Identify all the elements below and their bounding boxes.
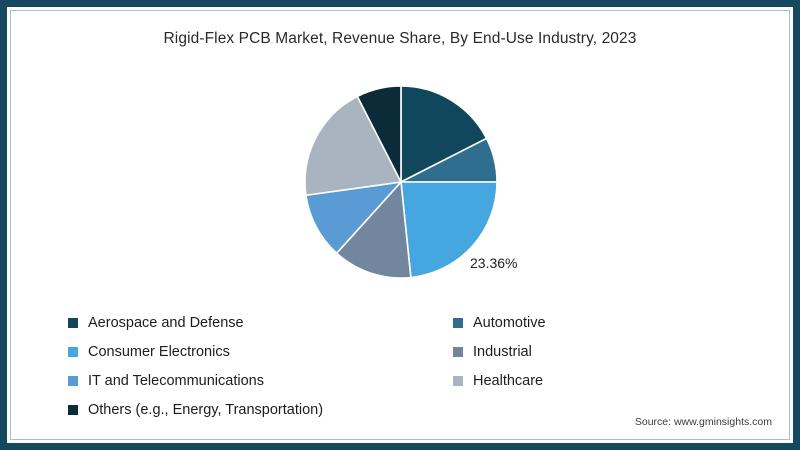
legend-swatch-icon — [453, 347, 463, 357]
legend-item[interactable]: Consumer Electronics — [68, 337, 448, 366]
legend-item-label: Others (e.g., Energy, Transportation) — [88, 402, 323, 418]
legend-item[interactable]: Automotive — [453, 308, 688, 337]
legend-swatch-icon — [68, 347, 78, 357]
legend-item-label: Consumer Electronics — [88, 344, 230, 360]
legend-item[interactable]: Others (e.g., Energy, Transportation) — [68, 395, 448, 424]
legend-item[interactable]: Industrial — [453, 337, 688, 366]
legend-item-label: IT and Telecommunications — [88, 373, 264, 389]
pie-chart — [304, 85, 498, 279]
legend-item-label: Healthcare — [473, 373, 543, 389]
chart-title: Rigid-Flex PCB Market, Revenue Share, By… — [0, 30, 800, 48]
legend-column-left: Aerospace and DefenseConsumer Electronic… — [68, 308, 448, 424]
legend-item[interactable]: IT and Telecommunications — [68, 366, 448, 395]
legend-swatch-icon — [68, 318, 78, 328]
slice-data-label: 23.36% — [470, 255, 517, 271]
legend-item-label: Industrial — [473, 344, 532, 360]
pie-chart-svg — [304, 85, 498, 279]
legend-item[interactable]: Aerospace and Defense — [68, 308, 448, 337]
source-attribution: Source: www.gminsights.com — [635, 416, 772, 428]
legend-item-label: Automotive — [473, 315, 546, 331]
legend-item-label: Aerospace and Defense — [88, 315, 244, 331]
legend-swatch-icon — [453, 376, 463, 386]
legend-item[interactable]: Healthcare — [453, 366, 688, 395]
legend-swatch-icon — [68, 376, 78, 386]
legend-column-right: AutomotiveIndustrialHealthcare — [453, 308, 688, 395]
chart-canvas: Rigid-Flex PCB Market, Revenue Share, By… — [0, 0, 800, 450]
legend-swatch-icon — [453, 318, 463, 328]
legend-swatch-icon — [68, 405, 78, 415]
